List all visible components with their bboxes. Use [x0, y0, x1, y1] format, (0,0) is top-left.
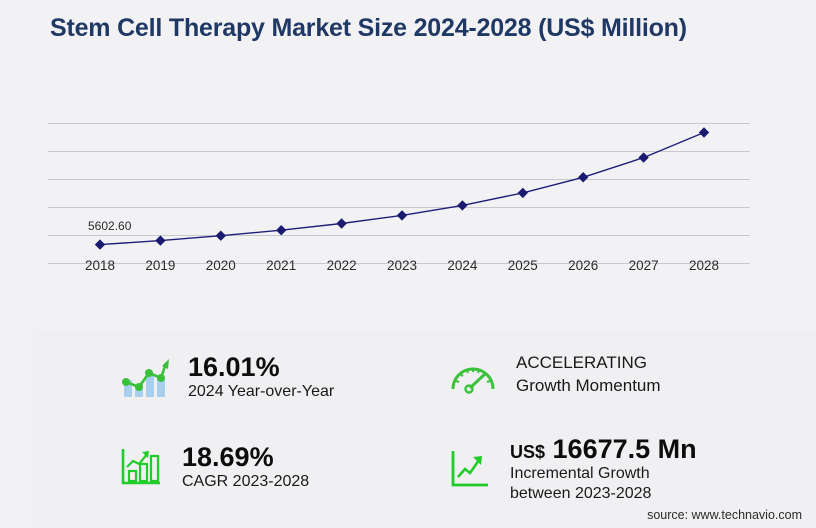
- x-tick-2025: 2025: [508, 258, 538, 273]
- stat-incremental-unit: US$: [510, 442, 545, 462]
- page-title: Stem Cell Therapy Market Size 2024-2028 …: [50, 14, 687, 43]
- data-point-2025: [518, 188, 528, 198]
- series-markers: [95, 127, 709, 250]
- x-tick-2026: 2026: [568, 258, 598, 273]
- stat-incremental: US$ 16677.5 Mn Incremental Growth betwee…: [448, 434, 697, 504]
- stat-yoy-caption: 2024 Year-over-Year: [188, 382, 334, 402]
- data-point-2026: [578, 172, 588, 183]
- stat-cagr-caption: CAGR 2023-2028: [182, 472, 309, 492]
- data-point-2022: [336, 218, 346, 228]
- x-tick-2027: 2027: [629, 258, 659, 273]
- x-axis: 2018201920202021202220232024202520262027…: [48, 258, 750, 282]
- x-tick-2020: 2020: [206, 258, 236, 273]
- stat-cagr: 18.69% CAGR 2023-2028: [118, 442, 309, 492]
- x-tick-2023: 2023: [387, 258, 417, 273]
- series-line: [100, 133, 704, 245]
- line-chart: 5602.60 20182019202020212022202320242025…: [0, 90, 816, 280]
- plot-area: 5602.60: [48, 105, 750, 250]
- x-tick-2028: 2028: [689, 258, 719, 273]
- data-point-2027: [638, 152, 648, 162]
- stat-momentum: ACCELERATING Growth Momentum: [448, 352, 661, 398]
- data-point-2019: [155, 235, 165, 245]
- stat-incremental-value: US$ 16677.5 Mn: [510, 434, 697, 464]
- data-point-2024: [457, 200, 467, 210]
- x-tick-2022: 2022: [327, 258, 357, 273]
- stat-incremental-amount: 16677.5 Mn: [553, 434, 697, 464]
- stat-incremental-caption-1: Incremental Growth: [510, 464, 697, 484]
- stat-yoy-value: 16.01%: [188, 352, 334, 382]
- stats-panel: 16.01% 2024 Year-over-Year 18.69% CAGR 2…: [33, 330, 816, 528]
- data-point-2028: [699, 127, 709, 137]
- bar-chart-arrow-icon: [118, 445, 164, 489]
- bar-line-growth-icon: [118, 354, 170, 400]
- x-tick-2019: 2019: [145, 258, 175, 273]
- source-note: source: www.technavio.com: [647, 508, 802, 522]
- stat-yoy: 16.01% 2024 Year-over-Year: [118, 352, 334, 402]
- x-tick-2021: 2021: [266, 258, 296, 273]
- x-tick-2018: 2018: [85, 258, 115, 273]
- stat-momentum-line2: Growth Momentum: [516, 375, 661, 398]
- stat-incremental-caption-2: between 2023-2028: [510, 484, 697, 504]
- series-plot: [48, 105, 750, 250]
- data-point-2021: [276, 225, 286, 235]
- x-tick-2024: 2024: [447, 258, 477, 273]
- stat-cagr-value: 18.69%: [182, 442, 309, 472]
- trend-arrow-icon: [448, 447, 492, 491]
- data-point-2023: [397, 210, 407, 220]
- stat-momentum-line1: ACCELERATING: [516, 352, 661, 375]
- first-point-value-label: 5602.60: [88, 219, 131, 233]
- speedometer-icon: [448, 355, 498, 395]
- data-point-2020: [216, 231, 226, 241]
- data-point-2018: [95, 239, 105, 249]
